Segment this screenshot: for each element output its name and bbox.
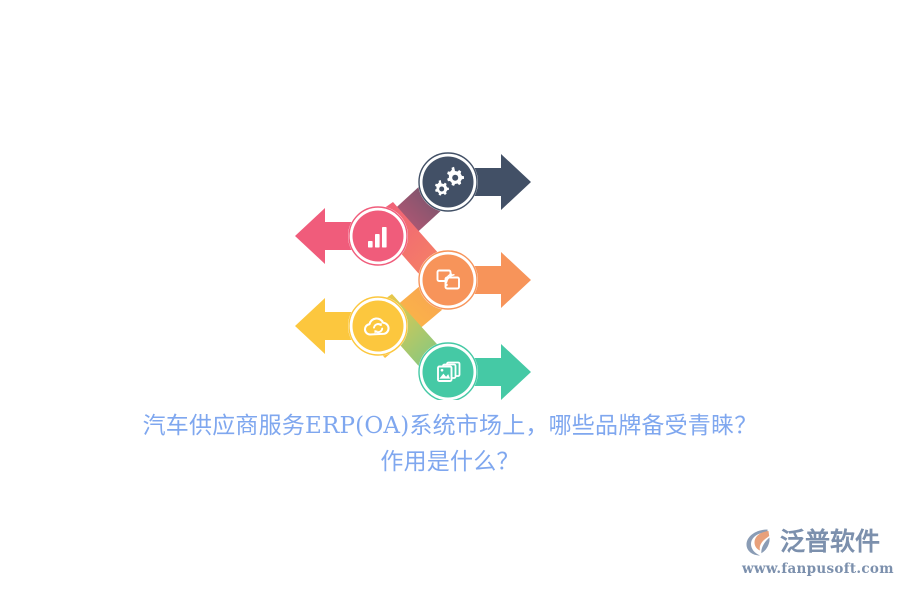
step-1-circle-fill bbox=[423, 157, 474, 208]
brand-logo[interactable]: 泛普软件 www.fanpusoft.com bbox=[742, 524, 882, 582]
step-4-cloudsync-left-arrow[interactable] bbox=[295, 296, 408, 356]
fanpu-logo-mark-icon bbox=[742, 525, 776, 559]
page-title: 汽车供应商服务ERP(OA)系统市场上，哪些品牌备受青睐？ 作用是什么？ bbox=[0, 408, 900, 480]
infographic-svg bbox=[265, 140, 555, 400]
page-canvas: 汽车供应商服务ERP(OA)系统市场上，哪些品牌备受青睐？ 作用是什么？ 泛普软… bbox=[0, 0, 900, 600]
logo-brand-name: 泛普软件 bbox=[780, 525, 880, 559]
step-2-barchart-left-arrow[interactable] bbox=[295, 206, 408, 266]
step-4-circle-fill bbox=[353, 301, 404, 352]
step-3-screencast-right-arrow[interactable] bbox=[418, 250, 531, 310]
step-1-gears-right-arrow[interactable] bbox=[418, 152, 531, 212]
zigzag-arrow-infographic bbox=[265, 140, 555, 400]
step-5-gallery-right-arrow[interactable] bbox=[418, 342, 531, 400]
logo-row: 泛普软件 bbox=[742, 524, 882, 560]
logo-website-url: www.fanpusoft.com bbox=[742, 561, 882, 577]
